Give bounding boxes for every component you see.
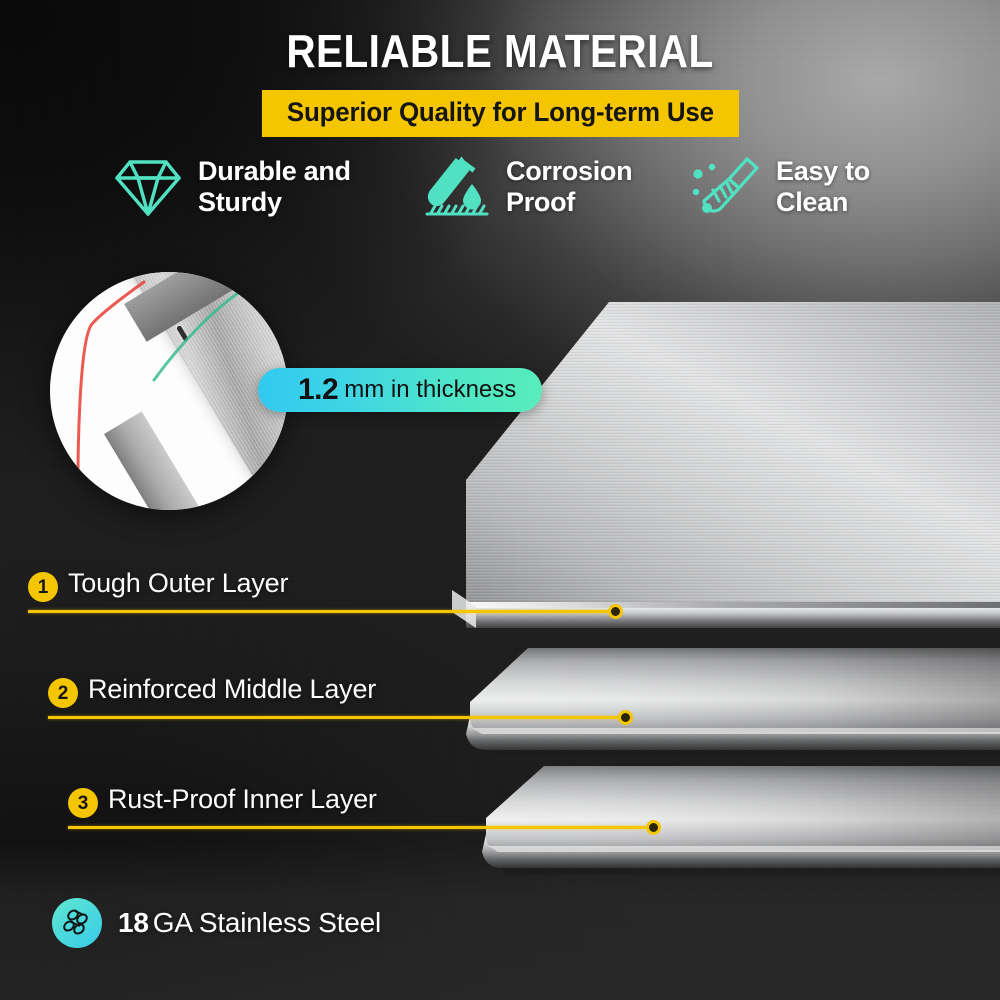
noise-overlay	[0, 0, 1000, 1000]
infographic-page: RELIABLE MATERIAL Superior Quality for L…	[0, 0, 1000, 1000]
